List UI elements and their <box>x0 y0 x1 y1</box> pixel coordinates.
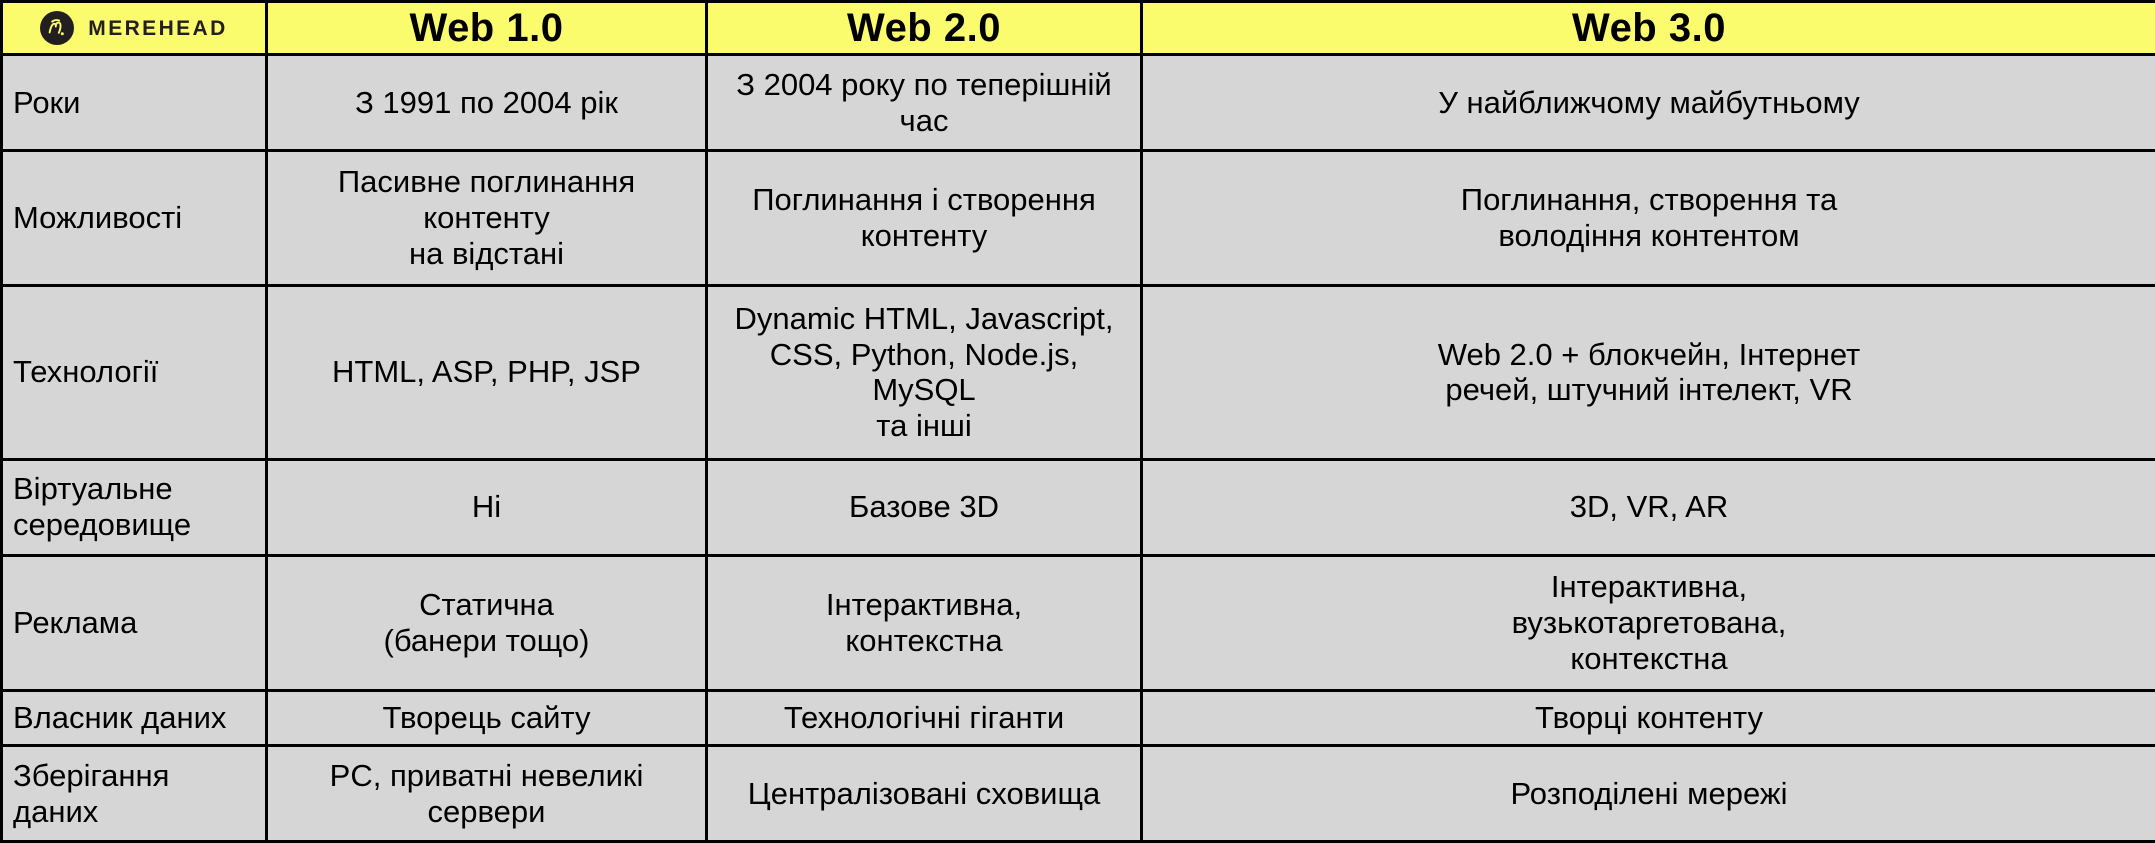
table-row: Власник даних Творець сайту Технологічні… <box>2 690 2155 746</box>
table-row: Зберігання даних PC, приватні невеликі с… <box>2 746 2155 842</box>
table-row: Можливості Пасивне поглинання контенту н… <box>2 150 2155 285</box>
table-cell: PC, приватні невеликі сервери <box>267 746 707 842</box>
table-row: Реклама Статична (банери тощо) Інтеракти… <box>2 555 2155 690</box>
table-cell: Пасивне поглинання контенту на відстані <box>267 150 707 285</box>
table-cell: Ні <box>267 460 707 555</box>
table-cell: 3D, VR, AR <box>1142 460 2155 555</box>
table-cell: Web 2.0 + блокчейн, Інтернет речей, штуч… <box>1142 285 2155 459</box>
table-body: Роки З 1991 по 2004 рік З 2004 року по т… <box>2 55 2155 842</box>
table-cell: З 2004 року по теперішній час <box>707 55 1142 150</box>
table-cell: З 1991 по 2004 рік <box>267 55 707 150</box>
brand-name: MEREHEAD <box>88 18 227 39</box>
table-cell: Технологічні гіганти <box>707 690 1142 746</box>
web-generations-comparison-table: MEREHEAD Web 1.0 Web 2.0 Web 3.0 Роки З … <box>0 0 2155 843</box>
table-cell: Інтерактивна, контекстна <box>707 555 1142 690</box>
table-cell: У найближчому майбутньому <box>1142 55 2155 150</box>
table-row: Роки З 1991 по 2004 рік З 2004 року по т… <box>2 55 2155 150</box>
table-cell: Централізовані сховища <box>707 746 1142 842</box>
column-header-web2: Web 2.0 <box>707 2 1142 55</box>
table-row: Віртуальне середовище Ні Базове 3D 3D, V… <box>2 460 2155 555</box>
row-label: Реклама <box>2 555 267 690</box>
table-cell: Творець сайту <box>267 690 707 746</box>
row-label: Можливості <box>2 150 267 285</box>
table-cell: Поглинання, створення та володіння конте… <box>1142 150 2155 285</box>
row-label: Технології <box>2 285 267 459</box>
row-label: Власник даних <box>2 690 267 746</box>
table-cell: Поглинання і створення контенту <box>707 150 1142 285</box>
table-cell: Творці контенту <box>1142 690 2155 746</box>
row-label: Віртуальне середовище <box>2 460 267 555</box>
brand-logo-cell: MEREHEAD <box>2 2 267 55</box>
table-row: Технології HTML, ASP, PHP, JSP Dynamic H… <box>2 285 2155 459</box>
table-cell: Інтерактивна, вузькотаргетована, контекс… <box>1142 555 2155 690</box>
table-cell: Dynamic HTML, Javascript, CSS, Python, N… <box>707 285 1142 459</box>
row-label: Зберігання даних <box>2 746 267 842</box>
table-cell: Розподілені мережі <box>1142 746 2155 842</box>
row-label: Роки <box>2 55 267 150</box>
table-header-row: MEREHEAD Web 1.0 Web 2.0 Web 3.0 <box>2 2 2155 55</box>
merehead-monogram-icon <box>40 11 74 45</box>
column-header-web3: Web 3.0 <box>1142 2 2155 55</box>
column-header-web1: Web 1.0 <box>267 2 707 55</box>
table-cell: HTML, ASP, PHP, JSP <box>267 285 707 459</box>
table-cell: Статична (банери тощо) <box>267 555 707 690</box>
table-cell: Базове 3D <box>707 460 1142 555</box>
